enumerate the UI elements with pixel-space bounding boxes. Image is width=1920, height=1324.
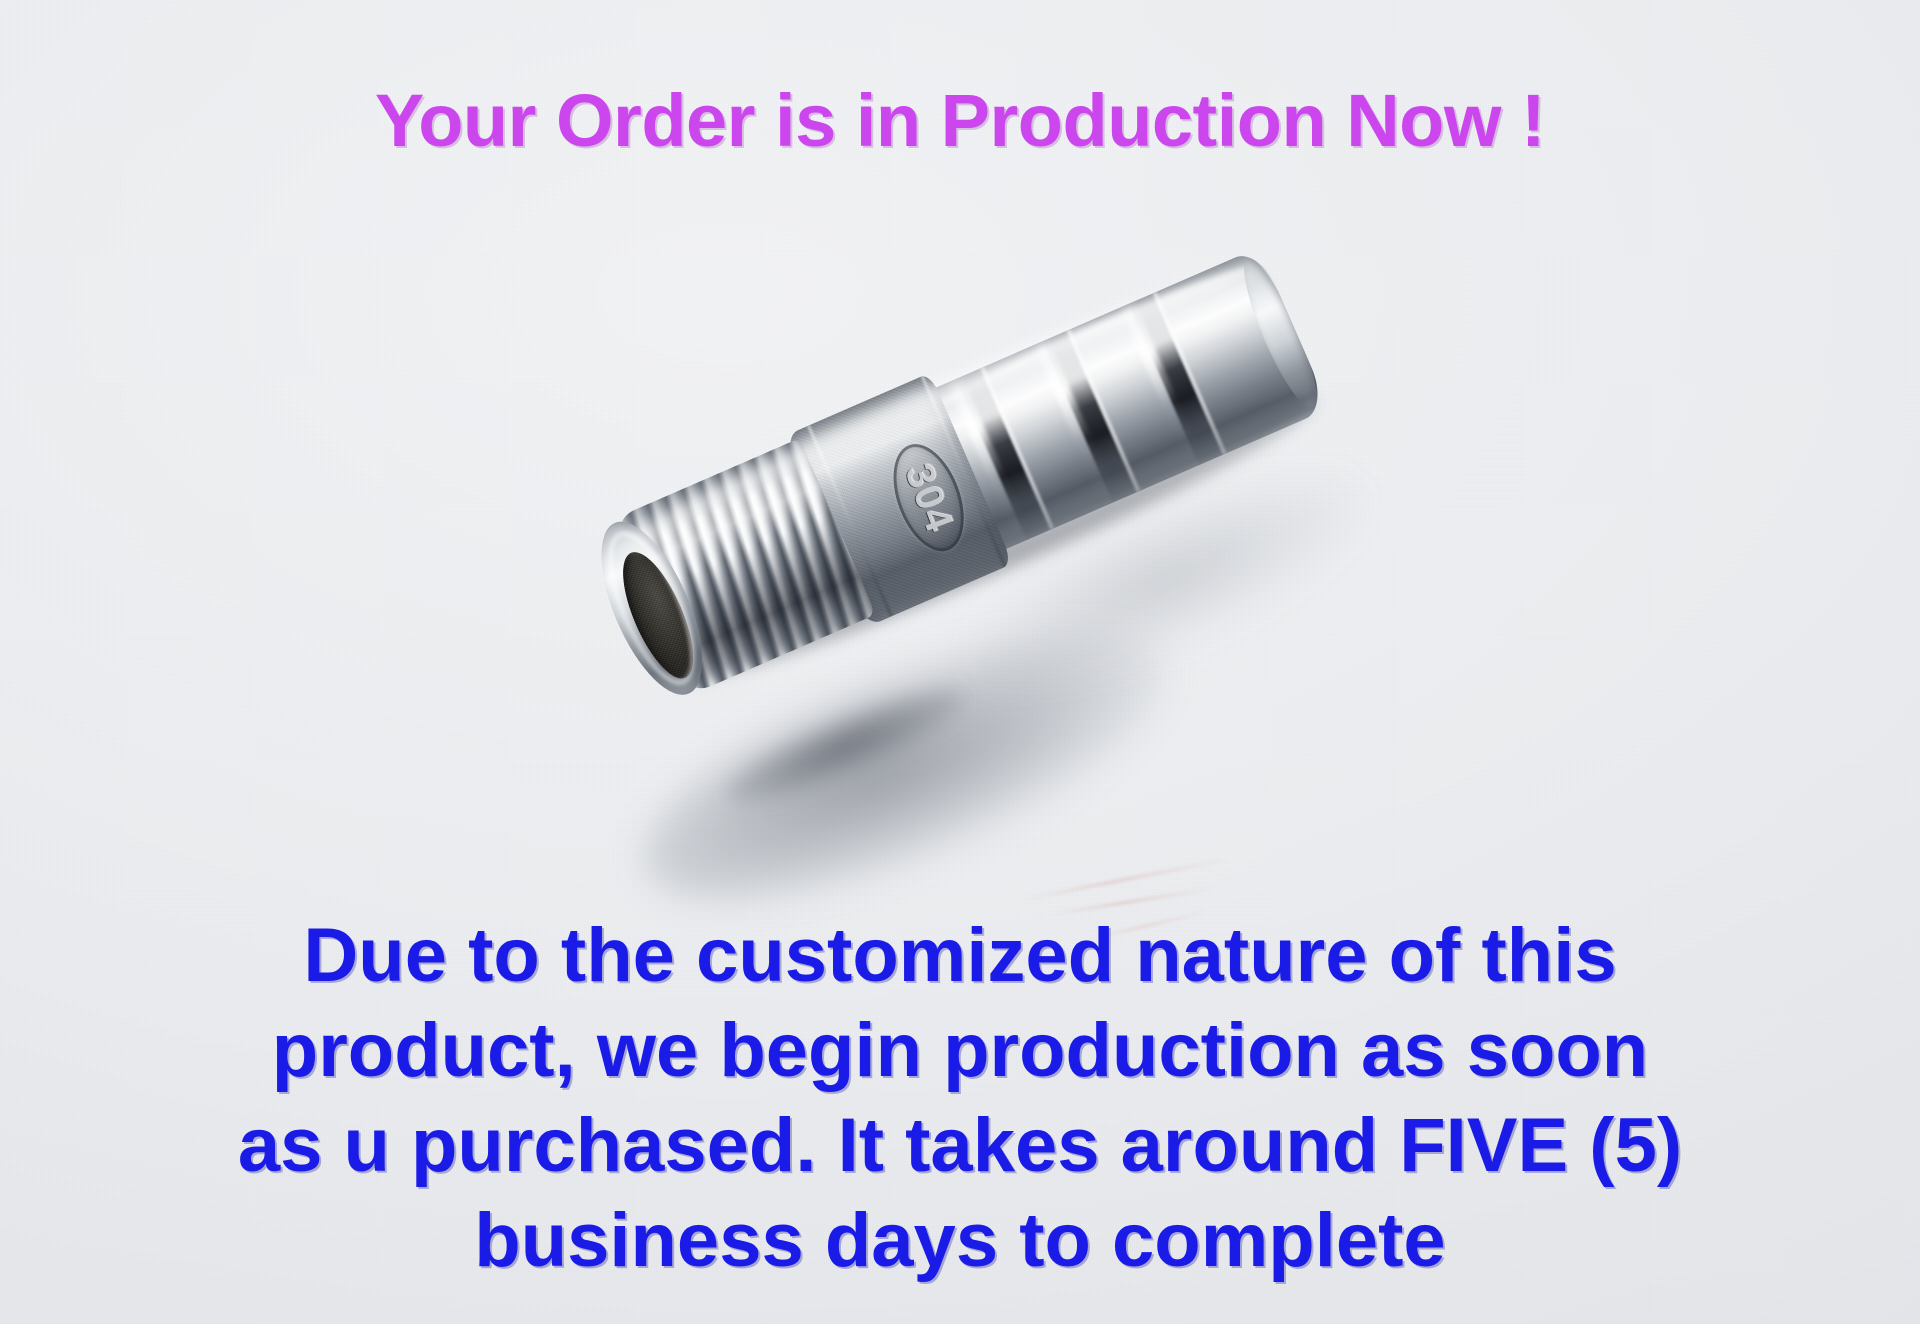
body-line: business days to complete — [0, 1193, 1920, 1288]
product-contact-shadow — [715, 669, 975, 820]
product-photo: 304 — [555, 370, 1415, 900]
barb-groove — [1129, 293, 1223, 465]
headline-text: Your Order is in Production Now ! — [0, 78, 1920, 163]
hose-barb-fitting: 304 — [573, 231, 1336, 720]
notice-image: Your Order is in Production Now ! — [0, 0, 1920, 1324]
body-line: product, we begin production as soon — [0, 1003, 1920, 1098]
body-paragraph: Due to the customized nature of this pro… — [0, 908, 1920, 1288]
body-line: Due to the customized nature of this — [0, 908, 1920, 1003]
barb-end-face — [1232, 252, 1329, 416]
barb-groove — [1043, 331, 1137, 503]
body-line: as u purchased. It takes around FIVE (5) — [0, 1098, 1920, 1193]
